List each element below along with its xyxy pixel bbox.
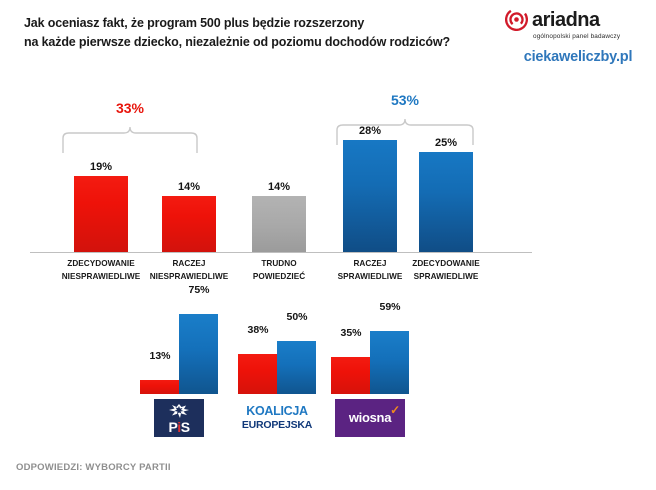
- party-bar-blue-koalicja-europejska[interactable]: [277, 341, 316, 394]
- total-negative-label: 33%: [80, 100, 180, 116]
- category-label-zdecydowanie-sprawiedliwe: ZDECYDOWANIE SPRAWIEDLIWE: [392, 258, 500, 283]
- chart-axis-line: [30, 252, 532, 253]
- category-label-line-1: ZDECYDOWANIE: [392, 258, 500, 271]
- bar-value-zdecydowanie-niesprawiedliwe: 19%: [66, 161, 136, 173]
- pis-logo-text: PiS: [154, 420, 204, 434]
- bar-value-raczej-sprawiedliwe: 28%: [335, 125, 405, 137]
- ariadna-tagline: ogólnopolski panel badawczy: [533, 33, 651, 40]
- check-icon: ✓: [390, 404, 400, 416]
- party-value-red-pis: 13%: [136, 350, 184, 362]
- bracket-negative-shape: [60, 124, 200, 154]
- party-value-red-wiosna: 35%: [327, 327, 375, 339]
- question-line-2: na każde pierwsze dziecko, niezależnie o…: [24, 33, 494, 52]
- party-bars-pis: [140, 304, 218, 394]
- wiosna-logo: wiosna ✓: [335, 399, 405, 437]
- party-value-red-koalicja-europejska: 38%: [234, 324, 282, 336]
- party-group-wiosna: 35% 59% wiosna ✓: [331, 288, 409, 443]
- bar-value-trudno-powiedziec: 14%: [244, 181, 314, 193]
- koalicja-europejska-logo: KOALICJA EUROPEJSKA: [235, 399, 319, 437]
- bar-raczej-niesprawiedliwe[interactable]: [162, 196, 216, 252]
- party-bar-blue-pis[interactable]: [179, 314, 218, 394]
- party-value-blue-koalicja-europejska: 50%: [273, 311, 321, 323]
- ariadna-spiral-icon: [505, 8, 528, 31]
- party-value-blue-wiosna: 59%: [366, 301, 414, 313]
- ariadna-logo: ariadna: [505, 8, 651, 31]
- bracket-negative: [60, 124, 200, 154]
- bar-zdecydowanie-sprawiedliwe[interactable]: [419, 152, 473, 252]
- ariadna-wordmark: ariadna: [532, 10, 600, 30]
- category-label-line-2: SPRAWIEDLIWE: [392, 271, 500, 284]
- party-group-pis: 13% 75% PiS: [140, 288, 218, 443]
- pis-logo: PiS: [154, 399, 204, 437]
- main-bar-chart: 33% 53% 19% ZDECYDOWANIE NIESPRAWIEDLIWE…: [0, 78, 656, 288]
- party-bar-red-koalicja-europejska[interactable]: [238, 354, 277, 394]
- bar-raczej-sprawiedliwe[interactable]: [343, 140, 397, 252]
- eagle-icon: [167, 403, 191, 419]
- bar-trudno-powiedziec[interactable]: [252, 196, 306, 252]
- brand-block: ariadna ogólnopolski panel badawczy ciek…: [505, 8, 651, 65]
- total-positive-label: 53%: [355, 92, 455, 108]
- bar-value-raczej-niesprawiedliwe: 14%: [154, 181, 224, 193]
- party-bar-red-wiosna[interactable]: [331, 357, 370, 394]
- party-bar-red-pis[interactable]: [140, 380, 179, 394]
- question-line-1: Jak oceniasz fakt, że program 500 plus b…: [24, 14, 494, 33]
- ciekaweliczby-link[interactable]: ciekaweliczby.pl: [505, 49, 651, 65]
- header: Jak oceniasz fakt, że program 500 plus b…: [0, 0, 656, 78]
- koalicja-logo-line-1: KOALICJA: [246, 405, 308, 419]
- party-group-koalicja-europejska: 38% 50% KOALICJA EUROPEJSKA: [238, 288, 316, 443]
- party-bars-wiosna: [331, 304, 409, 394]
- wiosna-logo-text: wiosna: [349, 410, 391, 425]
- koalicja-logo-line-2: EUROPEJSKA: [242, 419, 312, 431]
- bar-zdecydowanie-niesprawiedliwe[interactable]: [74, 176, 128, 252]
- page-title: Jak oceniasz fakt, że program 500 plus b…: [24, 14, 494, 52]
- party-bar-blue-wiosna[interactable]: [370, 331, 409, 394]
- party-breakdown-chart: 13% 75% PiS 38% 50% KOALICJA EUROPEJSKA: [0, 288, 656, 448]
- footer-note: ODPOWIEDZI: WYBORCY PARTII: [16, 462, 171, 473]
- bar-value-zdecydowanie-sprawiedliwe: 25%: [411, 137, 481, 149]
- party-value-blue-pis: 75%: [175, 284, 223, 296]
